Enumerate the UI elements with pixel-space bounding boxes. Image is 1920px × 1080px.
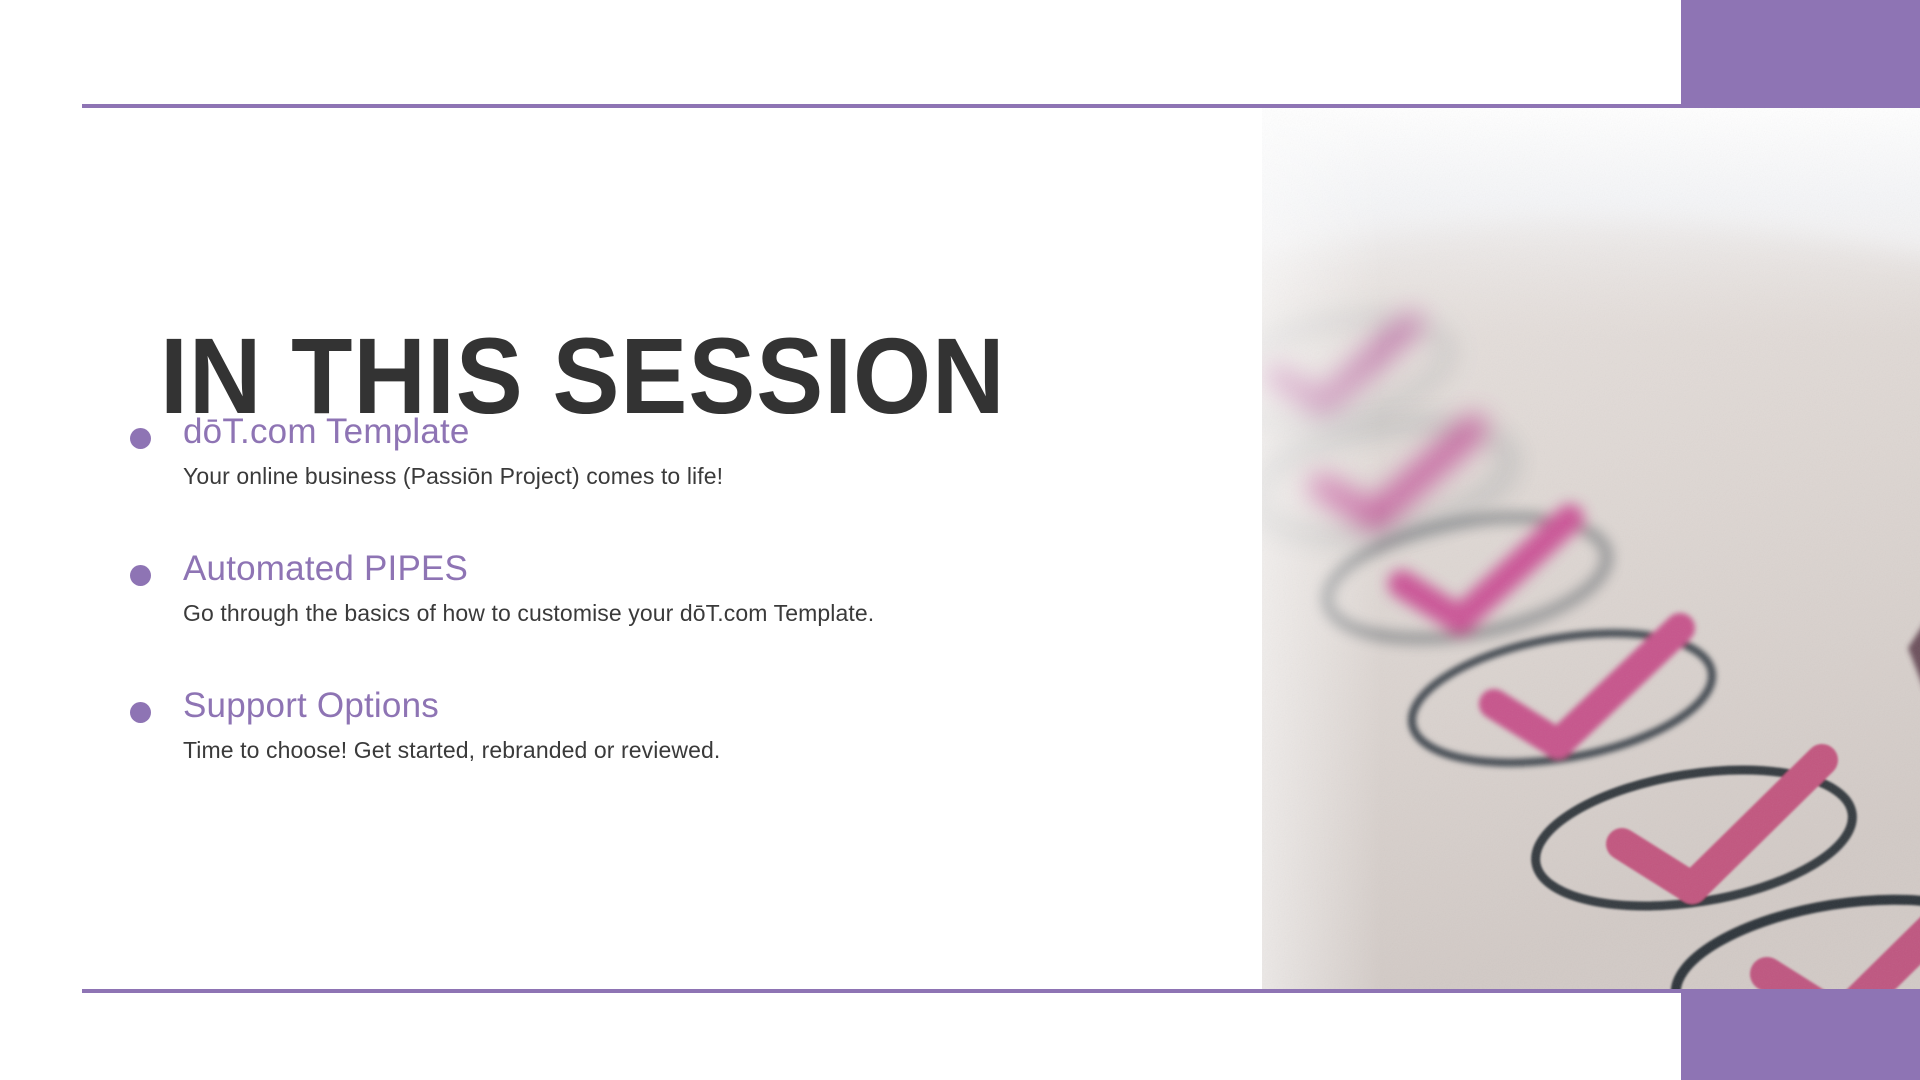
list-item-heading: Automated PIPES [183, 547, 1100, 591]
divider-rule-bottom [82, 989, 1920, 993]
list-item: dōT.com Template Your online business (P… [0, 410, 1100, 491]
list-item-description: Your online business (Passiōn Project) c… [183, 461, 1100, 491]
bullet-dot-icon [130, 565, 151, 586]
checklist-photo [1262, 108, 1920, 989]
list-item-heading: dōT.com Template [183, 410, 1100, 454]
accent-block-top-right [1681, 0, 1920, 106]
bullet-dot-icon [130, 702, 151, 723]
list-item-description: Go through the basics of how to customis… [183, 598, 1100, 628]
slide-content: IN THIS SESSION dōT.com Template Your on… [0, 108, 1262, 989]
list-item-heading: Support Options [183, 684, 1100, 728]
list-item: Support Options Time to choose! Get star… [0, 684, 1100, 765]
checklist-photo-graphic [1262, 108, 1920, 989]
accent-block-bottom-right [1681, 993, 1920, 1080]
bullet-list: dōT.com Template Your online business (P… [0, 410, 1100, 765]
bullet-dot-icon [130, 428, 151, 449]
slide-canvas: IN THIS SESSION dōT.com Template Your on… [0, 0, 1920, 1080]
list-item-description: Time to choose! Get started, rebranded o… [183, 735, 1100, 765]
list-item: Automated PIPES Go through the basics of… [0, 547, 1100, 628]
